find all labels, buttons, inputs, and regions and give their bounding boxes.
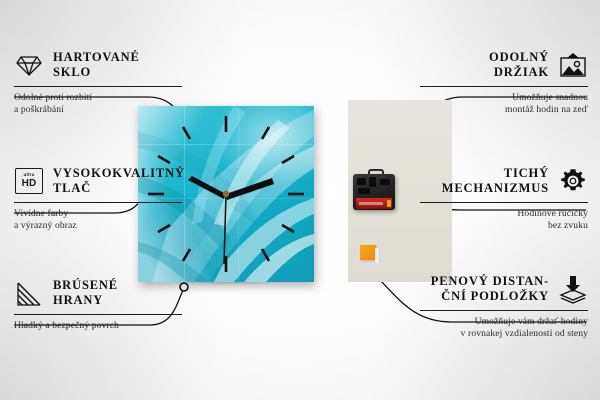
feature-hd-print: ultra HD VYSOKOKVALITNÝ TLAČ Vivídne far… <box>14 164 182 233</box>
mechanism-detail-a <box>357 178 366 185</box>
feature-header: TICHÝ MECHANIZMUS <box>420 164 588 198</box>
feature-description-line: Hladký a bezpečný povrch <box>14 320 182 332</box>
feature-description-line: Vivídne farby <box>14 208 182 220</box>
feature-description: Hladký a bezpečný povrch <box>14 320 182 332</box>
feature-description-line: v rovnakej vzdialenosti od steny <box>420 328 588 340</box>
feature-title: ODOLNÝ DRŽIAK <box>489 50 549 80</box>
mechanism-housing <box>353 174 395 210</box>
feature-title-line: HRANY <box>53 293 118 308</box>
feature-title-line: TLAČ <box>53 181 185 196</box>
hour-hand <box>188 176 226 199</box>
battery <box>356 198 392 209</box>
second-hand <box>224 194 226 264</box>
feature-durable-hanger: ODOLNÝ DRŽIAK Umožňuje snadnou montáž ho… <box>420 48 588 117</box>
feature-description-line: a výrazný obraz <box>14 220 182 232</box>
feature-title-line: ODOLNÝ <box>489 50 549 65</box>
feature-divider <box>420 86 588 87</box>
feature-description-line: Odolné proti rozbití <box>14 92 182 104</box>
feature-title: PENOVÝ DISTAN- ČNÍ PODLOŽKY <box>431 274 549 304</box>
feature-divider <box>14 314 182 315</box>
feature-divider <box>420 310 588 311</box>
feature-description: Umožňuje snadnou montáž hodin na zeď <box>420 92 588 117</box>
feature-header: ultra HD VYSOKOKVALITNÝ TLAČ <box>14 164 182 198</box>
mechanism-detail-b <box>369 177 376 187</box>
foam-spacer-icon <box>558 274 588 304</box>
feature-description-line: bez zvuku <box>420 220 588 232</box>
feature-description-line: Umožňuje vám držať hodiny <box>420 316 588 328</box>
feature-description: Hodinové ručičky bez zvuku <box>420 208 588 233</box>
feature-description-line: Umožňuje snadnou <box>420 92 588 104</box>
feature-title-line: BRÚSENÉ <box>53 278 118 293</box>
feature-header: HARTOVANÉ SKLO <box>14 48 182 82</box>
feature-description-line: a poškrábání <box>14 104 182 116</box>
feature-title-line: TICHÝ <box>442 166 549 181</box>
feature-description-line: Hodinové ručičky <box>420 208 588 220</box>
clock-hands <box>188 176 274 264</box>
feature-divider <box>14 202 182 203</box>
feature-description-line: montáž hodin na zeď <box>420 104 588 116</box>
battery-terminal <box>387 200 391 207</box>
feature-divider <box>14 86 182 87</box>
feature-foam-spacers: PENOVÝ DISTAN- ČNÍ PODLOŽKY Umožňuje vám… <box>420 272 588 341</box>
feature-title-line: DRŽIAK <box>489 65 549 80</box>
feature-description: Vivídne farby a výrazný obraz <box>14 208 182 233</box>
hands-center-cap <box>223 191 229 197</box>
ultra-hd-icon: ultra HD <box>14 166 44 196</box>
feature-title: HARTOVANÉ SKLO <box>53 50 140 80</box>
clock-mechanism <box>353 168 395 210</box>
feature-title-line: ČNÍ PODLOŽKY <box>431 289 549 304</box>
feature-title-line: PENOVÝ DISTAN- <box>431 274 549 289</box>
feature-polished-edges: BRÚSENÉ HRANY Hladký a bezpečný povrch <box>14 276 182 332</box>
feature-title-line: VYSOKOKVALITNÝ <box>53 166 185 181</box>
picture-hanger-icon <box>558 50 588 80</box>
feature-title-line: MECHANIZMUS <box>442 181 549 196</box>
feature-description: Odolné proti rozbití a poškrábání <box>14 92 182 117</box>
brushed-edges-icon <box>14 278 44 308</box>
feature-title: BRÚSENÉ HRANY <box>53 278 118 308</box>
foam-spacer-pad <box>360 245 376 260</box>
feature-title: TICHÝ MECHANIZMUS <box>442 166 549 196</box>
product-feature-infographic: HARTOVANÉ SKLO Odolné proti rozbití a po… <box>0 0 600 400</box>
feature-header: BRÚSENÉ HRANY <box>14 276 182 310</box>
ultra-hd-badge-large-text: HD <box>22 179 37 189</box>
feature-header: PENOVÝ DISTAN- ČNÍ PODLOŽKY <box>420 272 588 306</box>
ultra-hd-badge: ultra HD <box>15 168 43 194</box>
feature-tempered-glass: HARTOVANÉ SKLO Odolné proti rozbití a po… <box>14 48 182 117</box>
mechanism-detail-c <box>380 179 390 185</box>
minute-hand <box>226 178 274 200</box>
feature-title-line: HARTOVANÉ <box>53 50 140 65</box>
foam-spacer-pad-side <box>375 248 380 263</box>
diamond-icon <box>14 50 44 80</box>
gear-icon <box>558 166 588 196</box>
feature-silent-movement: TICHÝ MECHANIZMUS Hodinové ručičky bez z… <box>420 164 588 233</box>
feature-title: VYSOKOKVALITNÝ TLAČ <box>53 166 185 196</box>
feature-header: ODOLNÝ DRŽIAK <box>420 48 588 82</box>
mechanism-detail-d <box>358 188 370 194</box>
feature-title-line: SKLO <box>53 65 140 80</box>
battery-label <box>359 202 383 205</box>
feature-description: Umožňuje vám držať hodiny v rovnakej vzd… <box>420 316 588 341</box>
feature-divider <box>420 202 588 203</box>
